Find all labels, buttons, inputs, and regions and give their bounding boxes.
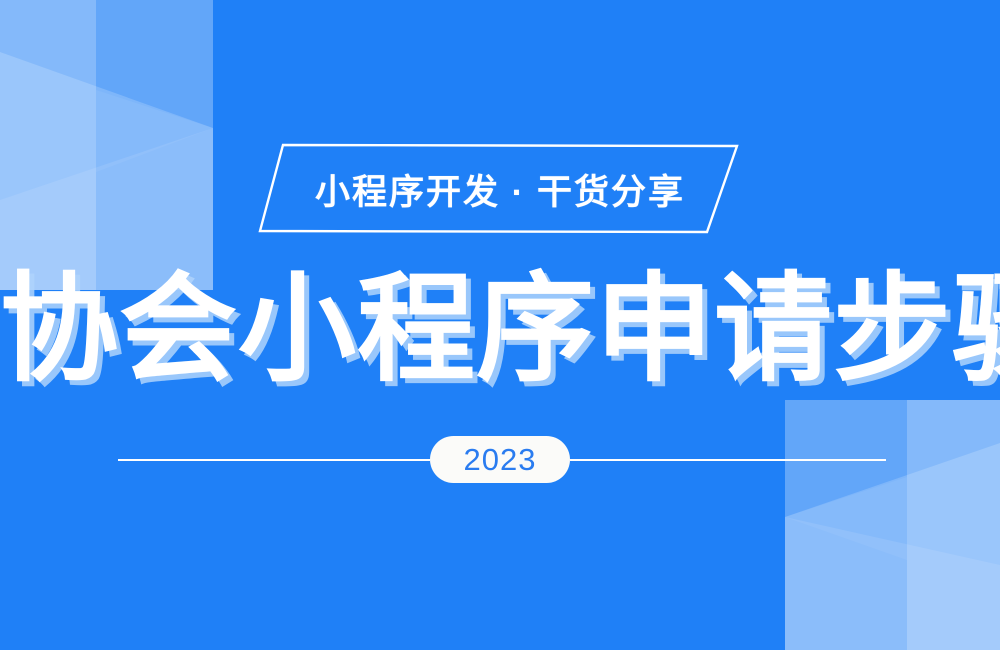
decor-top-left-inner-band	[0, 0, 96, 290]
subtitle-banner: 小程序开发 · 干货分享	[250, 138, 750, 240]
subtitle-text: 小程序开发 · 干货分享	[250, 138, 750, 240]
year-badge-row: 2023	[0, 436, 1000, 484]
divider-line-right	[570, 459, 886, 461]
divider-line-left	[118, 459, 430, 461]
poster-canvas: 小程序开发 · 干货分享 协会小程序申请步骤 2023	[0, 0, 1000, 650]
year-badge: 2023	[430, 436, 570, 483]
page-title: 协会小程序申请步骤	[0, 268, 1000, 392]
